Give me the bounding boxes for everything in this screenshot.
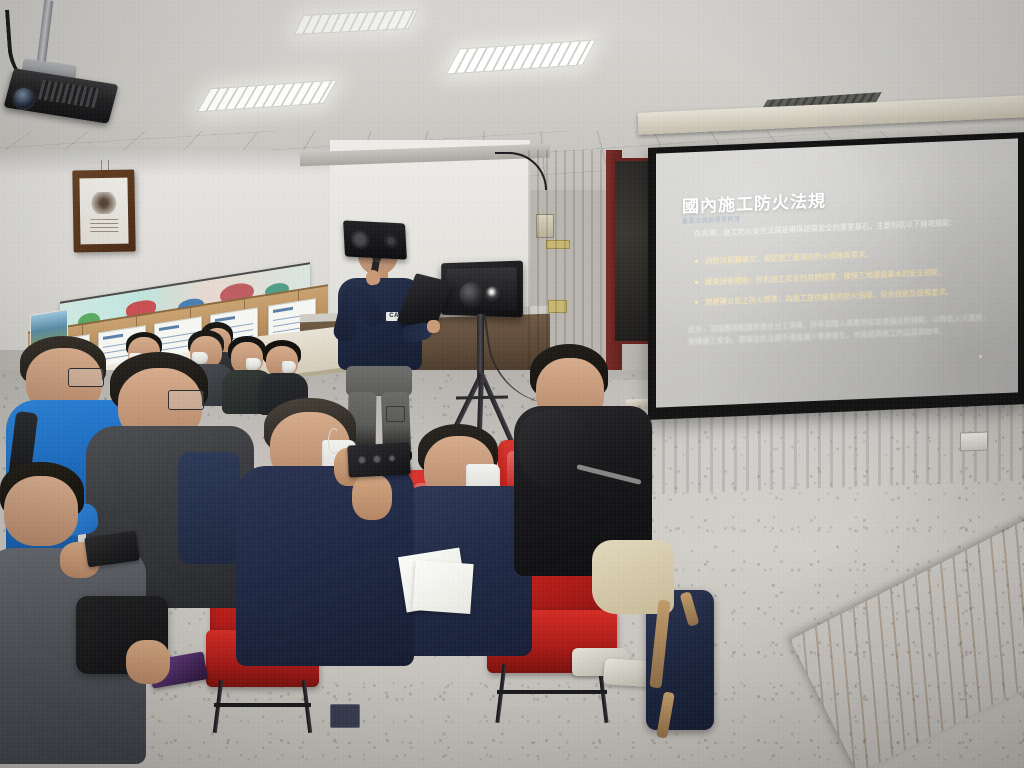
attendee-black-hoodie	[514, 344, 664, 674]
ceiling-light-fixture	[294, 9, 419, 35]
slide-outro-text: 此外，法規應用範圍與責任分工清晰，所有相關人員應熟知並遵循這些規範，以降低火災風…	[688, 311, 996, 348]
smartphone[interactable]	[347, 442, 411, 477]
overhead-pa-speaker	[343, 220, 407, 259]
screen-border: 國內施工防火法規 重要法規與標準概覽 在台灣，施工防火安全法規是確保建築安全的重…	[648, 132, 1024, 420]
slide-title: 國內施工防火法規	[682, 186, 826, 217]
speaker-tweeter-icon	[384, 233, 399, 248]
certificate-seal-icon	[91, 192, 117, 214]
wall-power-outlet	[960, 432, 988, 452]
certificate-text-lines	[90, 219, 118, 233]
presentation-slide: 國內施工防火法規 重要法規與標準概覽 在台灣，施工防火安全法規是確保建築安全的重…	[656, 138, 1018, 407]
slide-bullet: 營建署公告之防火標準：為施工提供最新的防火指導，包含技術及設備要求。	[694, 284, 996, 308]
presenter-right-hand	[427, 320, 440, 333]
attendee-glasses-icon	[168, 390, 204, 410]
framed-certificate	[72, 169, 135, 252]
speaker-face	[447, 267, 517, 311]
slide-bullet-list: 消防法相關條文：規定施工現場的防火措施與要求。 建築技術規則：針對施工安全的具體…	[694, 243, 996, 317]
slide-bullet: 建築技術規則：針對施工安全的具體標準，確保工地遵循基本的安全規範。	[694, 264, 996, 288]
speaker-tweeter-icon	[485, 286, 502, 303]
slide-bullet: 消防法相關條文：規定施工現場的防火措施與要求。	[694, 243, 996, 267]
white-papers-on-lap	[412, 560, 473, 614]
hoodie-hood	[518, 410, 588, 488]
attendee-inner-shirt	[178, 452, 240, 564]
certificate-paper	[79, 178, 128, 245]
speaker-woofer-icon	[350, 229, 371, 250]
attendee-head	[4, 476, 78, 546]
pa-speaker-cabinet	[441, 261, 523, 318]
jacket-pocket	[330, 704, 360, 728]
seminar-room-photo: 國內施工防火法規 重要法規與標準概覽 在台灣，施工防火安全法規是確保建築安全的重…	[0, 0, 1024, 768]
projection-screen: 國內施工防火法規 重要法規與標準概覽 在台灣，施工防火安全法規是確保建築安全的重…	[648, 132, 1024, 420]
slide-cursor-dot	[979, 355, 982, 358]
attendee-far-right-back	[258, 340, 308, 406]
slide-subtitle: 重要法規與標準概覽	[682, 214, 741, 225]
tripod-pole	[477, 314, 484, 380]
attendee-hand	[126, 640, 170, 684]
ceiling-light-fixture	[197, 80, 338, 113]
speaker-woofer-icon	[459, 282, 484, 308]
tripod-brace	[456, 396, 508, 400]
face-mask	[282, 361, 296, 373]
ceiling-light-fixture	[446, 39, 597, 74]
attendee-hand	[352, 474, 392, 520]
wall-shadow	[0, 150, 330, 176]
